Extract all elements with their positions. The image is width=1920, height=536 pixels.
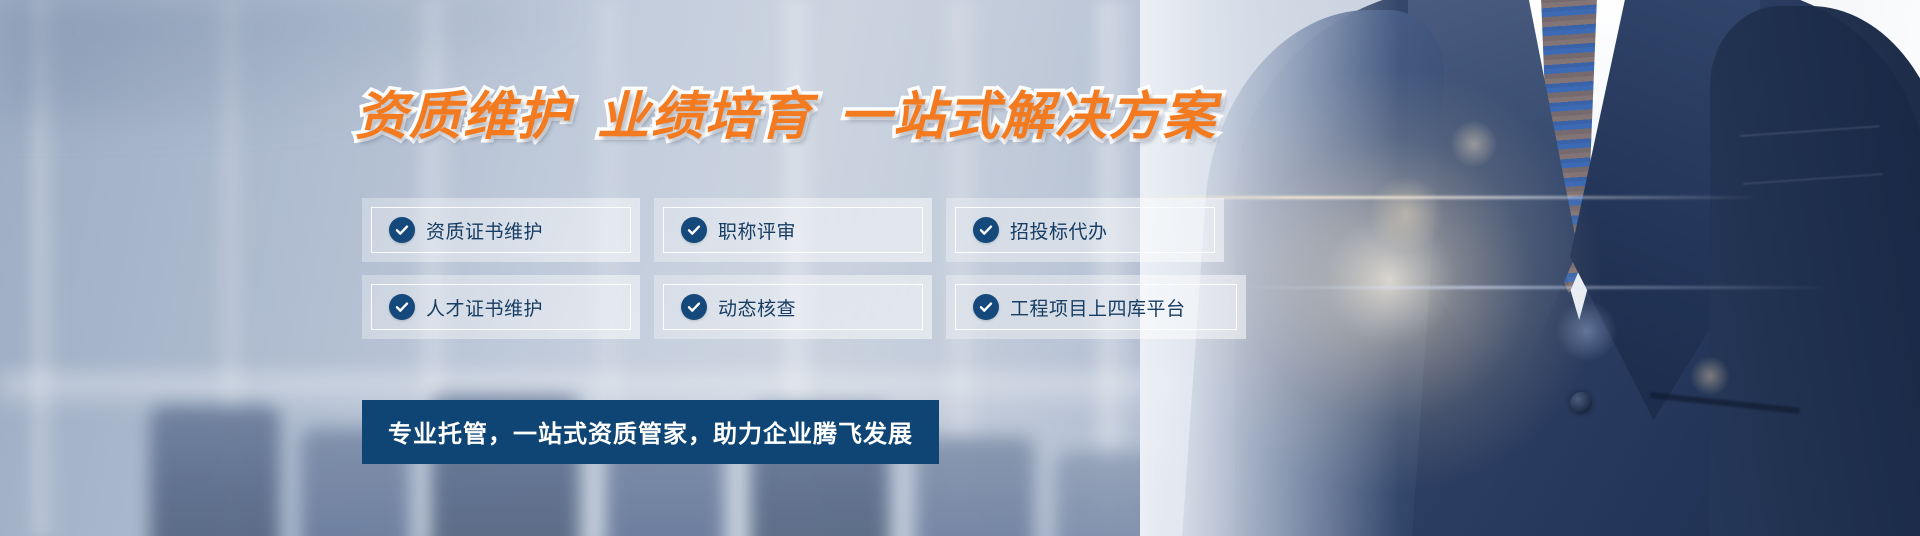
headline-part-2: 业绩培育 (597, 88, 813, 146)
feature-item-frame: 招投标代办 (955, 207, 1215, 253)
feature-item-dynamic-verification[interactable]: 动态核查 (654, 275, 932, 339)
feature-item-project-four-database-platform[interactable]: 工程项目上四库平台 (946, 275, 1246, 339)
check-circle-icon (973, 294, 999, 320)
feature-item-label: 人才证书维护 (426, 294, 543, 321)
feature-item-frame: 职称评审 (663, 207, 923, 253)
check-circle-icon (389, 217, 415, 243)
feature-item-label: 动态核查 (718, 294, 796, 321)
feature-item-label: 招投标代办 (1010, 217, 1108, 244)
check-circle-icon (681, 294, 707, 320)
feature-item-frame: 人才证书维护 (371, 284, 631, 330)
feature-item-qualification-certificate-maintenance[interactable]: 资质证书维护 (362, 198, 640, 262)
feature-item-frame: 资质证书维护 (371, 207, 631, 253)
headline-part-3: 一站式解决方案 (839, 88, 1217, 146)
feature-item-talent-certificate-maintenance[interactable]: 人才证书维护 (362, 275, 640, 339)
feature-item-label: 职称评审 (718, 217, 796, 244)
feature-item-frame: 工程项目上四库平台 (955, 284, 1237, 330)
check-circle-icon (681, 217, 707, 243)
feature-item-label: 工程项目上四库平台 (1010, 294, 1186, 321)
tagline-bar: 专业托管，一站式资质管家，助力企业腾飞发展 (362, 400, 939, 464)
feature-item-bidding-agency[interactable]: 招投标代办 (946, 198, 1224, 262)
check-circle-icon (973, 217, 999, 243)
feature-list: 资质证书维护 职称评审 招投标代办 (362, 198, 1224, 339)
headline-part-1: 资质维护 (355, 88, 571, 146)
banner-content: 资质维护业绩培育一站式解决方案 资质证书维护 职称评审 (0, 0, 1920, 536)
banner-headline: 资质维护业绩培育一站式解决方案 (355, 74, 1217, 149)
promo-banner: 资质维护业绩培育一站式解决方案 资质证书维护 职称评审 (0, 0, 1920, 536)
feature-item-label: 资质证书维护 (426, 217, 543, 244)
feature-item-frame: 动态核查 (663, 284, 923, 330)
check-circle-icon (389, 294, 415, 320)
feature-item-title-evaluation[interactable]: 职称评审 (654, 198, 932, 262)
